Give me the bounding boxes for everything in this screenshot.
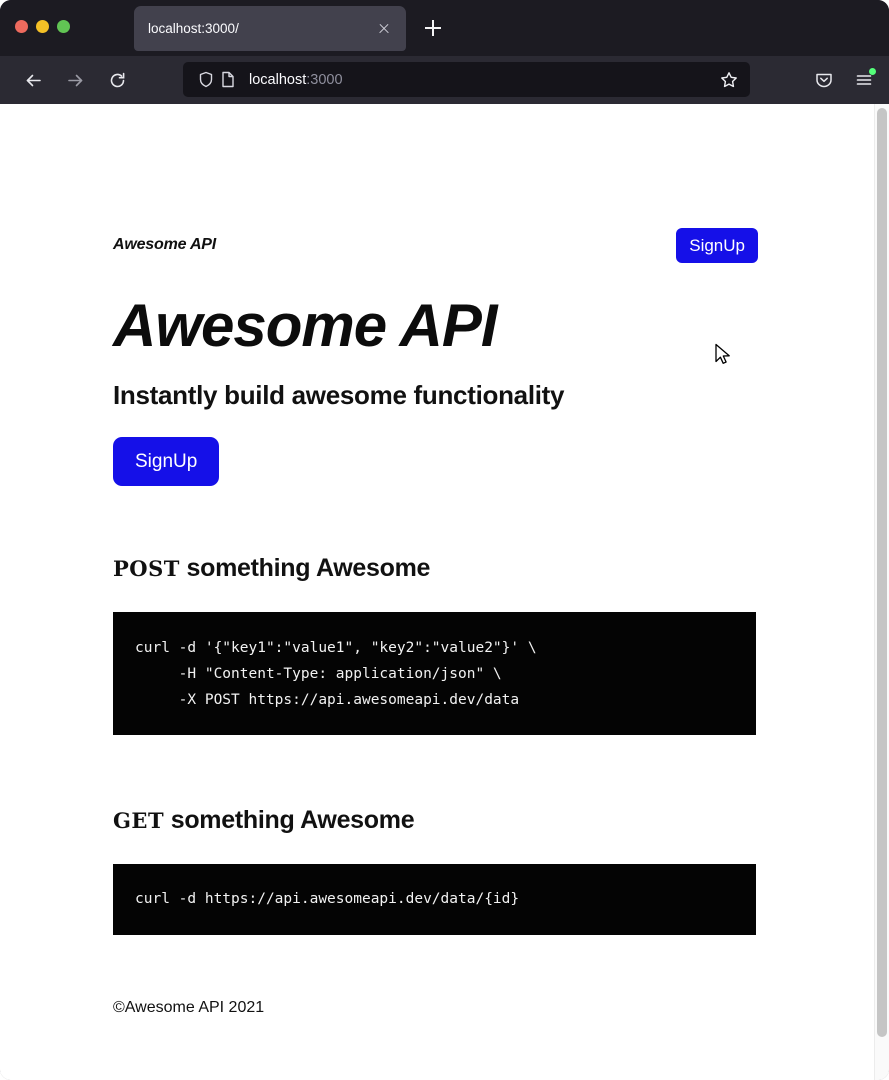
back-arrow-icon[interactable]	[16, 63, 50, 97]
nav-signup-button[interactable]: SignUp	[676, 228, 758, 263]
get-heading-rest: something Awesome	[164, 806, 414, 834]
url-port: :3000	[306, 72, 342, 88]
window-minimize-button[interactable]	[36, 20, 49, 33]
site-navbar: Awesome API SignUp	[113, 225, 758, 265]
menu-update-badge	[869, 68, 876, 75]
reload-icon[interactable]	[100, 63, 134, 97]
scrollbar-thumb[interactable]	[877, 108, 887, 1037]
shield-icon[interactable]	[195, 69, 217, 91]
site-brand: Awesome API	[113, 236, 216, 254]
hero-signup-button[interactable]: SignUp	[113, 437, 219, 486]
page-viewport: Awesome API SignUp Awesome API Instantly…	[0, 104, 889, 1080]
page-title: Awesome API	[113, 296, 497, 356]
new-tab-button[interactable]	[421, 16, 445, 40]
post-section-heading: POST something Awesome	[113, 556, 430, 581]
page-body: Awesome API SignUp Awesome API Instantly…	[0, 104, 874, 1080]
page-footer: ©Awesome API 2021	[113, 1000, 264, 1016]
page-subtitle: Instantly build awesome functionality	[113, 382, 564, 408]
window-close-button[interactable]	[15, 20, 28, 33]
window-maximize-button[interactable]	[57, 20, 70, 33]
address-bar[interactable]: localhost:3000	[183, 62, 750, 97]
tab-title: localhost:3000/	[148, 21, 374, 36]
forward-arrow-icon[interactable]	[58, 63, 92, 97]
toolbar-right-icons	[809, 62, 879, 97]
pocket-icon[interactable]	[809, 65, 839, 95]
hamburger-menu-icon[interactable]	[849, 65, 879, 95]
post-code-block[interactable]: curl -d '{"key1":"value1", "key2":"value…	[113, 612, 756, 735]
browser-tab[interactable]: localhost:3000/	[134, 6, 406, 51]
post-verb-label: POST	[113, 556, 180, 581]
browser-window: localhost:3000/	[0, 0, 889, 1080]
tab-strip: localhost:3000/	[0, 0, 889, 56]
page-document-icon[interactable]	[217, 69, 239, 91]
star-icon[interactable]	[716, 67, 742, 93]
get-code-block[interactable]: curl -d https://api.awesomeapi.dev/data/…	[113, 864, 756, 935]
close-icon[interactable]	[374, 19, 394, 39]
window-traffic-lights	[15, 20, 70, 33]
get-section-heading: GET something Awesome	[113, 808, 414, 833]
page-scrollbar[interactable]	[874, 104, 889, 1080]
post-heading-rest: something Awesome	[180, 554, 430, 582]
get-verb-label: GET	[113, 808, 164, 833]
url-text: localhost:3000	[249, 72, 716, 88]
url-host: localhost	[249, 72, 306, 88]
